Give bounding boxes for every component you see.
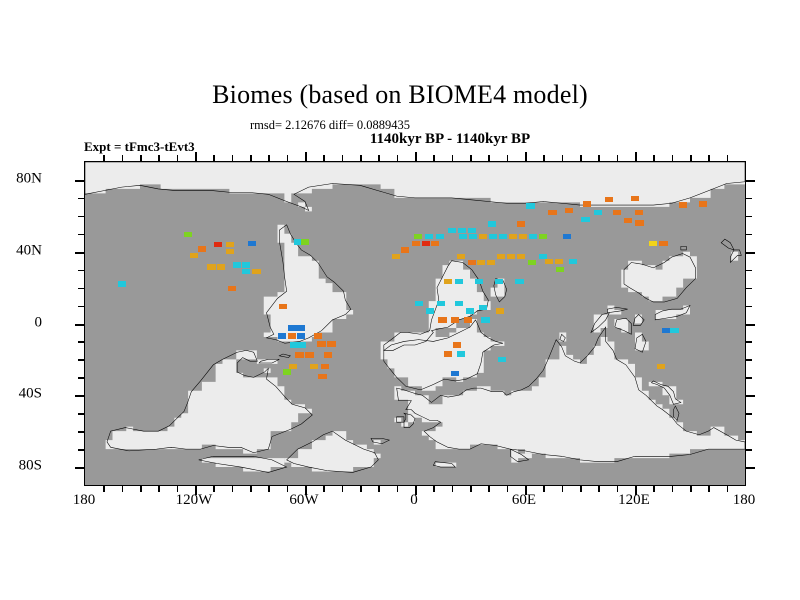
- figure-canvas: Biomes (based on BIOME4 model) rmsd= 2.1…: [0, 0, 800, 600]
- biome-marker: [495, 279, 503, 284]
- biome-marker: [278, 333, 286, 338]
- latitude-label: 40S: [0, 386, 56, 403]
- biome-marker: [317, 341, 325, 346]
- longitude-tick-top: [708, 155, 710, 162]
- biome-marker: [528, 260, 536, 265]
- biome-marker: [242, 269, 250, 274]
- biome-marker: [469, 234, 477, 239]
- biome-marker: [670, 328, 678, 333]
- biome-marker: [548, 210, 556, 215]
- latitude-tick: [75, 252, 85, 254]
- biome-marker: [412, 241, 420, 246]
- longitude-tick: [342, 485, 344, 492]
- latitude-tick-right: [745, 216, 752, 218]
- biome-marker: [487, 260, 495, 265]
- longitude-tick: [580, 485, 582, 492]
- latitude-tick-right: [745, 467, 755, 469]
- longitude-tick-top: [690, 155, 692, 162]
- longitude-tick: [433, 485, 435, 492]
- biome-marker: [659, 241, 667, 246]
- latitude-tick-right: [745, 306, 752, 308]
- biome-marker: [459, 234, 467, 239]
- biome-marker: [190, 253, 198, 258]
- biome-marker: [321, 364, 329, 369]
- experiment-label: Expt = tFmc3-tEvt3: [84, 139, 195, 155]
- latitude-tick: [78, 449, 85, 451]
- longitude-tick: [177, 485, 179, 492]
- figure-title: Biomes (based on BIOME4 model): [0, 80, 800, 110]
- longitude-tick: [672, 485, 674, 492]
- landmass-namerica: [106, 350, 312, 453]
- longitude-tick: [397, 485, 399, 492]
- landmass-australia: [621, 252, 697, 301]
- longitude-tick: [727, 485, 729, 492]
- longitude-tick: [543, 485, 545, 492]
- longitude-tick: [470, 485, 472, 492]
- longitude-tick: [452, 485, 454, 492]
- biome-marker: [425, 234, 433, 239]
- biome-marker: [444, 279, 452, 284]
- biome-marker: [184, 232, 192, 237]
- biome-marker: [488, 221, 496, 226]
- biome-marker: [451, 317, 459, 322]
- latitude-tick-right: [745, 449, 752, 451]
- latitude-tick: [78, 306, 85, 308]
- longitude-tick: [598, 485, 600, 492]
- biome-marker: [498, 357, 506, 362]
- biome-marker: [297, 333, 305, 338]
- longitude-tick: [378, 485, 380, 492]
- map-clip-region: [85, 162, 745, 485]
- longitude-label: 0: [374, 492, 454, 509]
- biome-marker: [455, 301, 463, 306]
- biome-marker: [437, 301, 445, 306]
- biome-marker: [288, 333, 296, 338]
- latitude-tick: [78, 288, 85, 290]
- biome-marker: [662, 328, 670, 333]
- biome-marker: [436, 234, 444, 239]
- biome-marker: [392, 254, 400, 259]
- biome-marker: [613, 210, 621, 215]
- biome-marker: [583, 201, 591, 206]
- longitude-tick: [360, 485, 362, 492]
- longitude-tick: [250, 485, 252, 492]
- longitude-tick-top: [103, 155, 105, 162]
- longitude-tick-top: [360, 155, 362, 162]
- longitude-label: 120E: [594, 492, 674, 509]
- biome-marker: [479, 305, 487, 310]
- latitude-label: 80N: [0, 170, 56, 187]
- biome-marker: [699, 201, 707, 206]
- latitude-tick: [78, 377, 85, 379]
- biome-marker: [475, 279, 483, 284]
- biome-marker: [631, 196, 639, 201]
- longitude-tick-top: [727, 155, 729, 162]
- longitude-tick-top: [397, 155, 399, 162]
- latitude-tick-right: [745, 324, 755, 326]
- latitude-tick: [75, 180, 85, 182]
- biome-marker: [499, 234, 507, 239]
- longitude-tick: [562, 485, 564, 492]
- biome-marker: [228, 286, 236, 291]
- biome-marker: [252, 269, 260, 274]
- latitude-tick-right: [745, 341, 752, 343]
- biome-marker: [455, 279, 463, 284]
- biome-marker: [431, 241, 439, 246]
- longitude-tick: [140, 485, 142, 492]
- biome-marker: [324, 352, 332, 357]
- biome-marker: [451, 371, 459, 376]
- biome-marker: [649, 241, 657, 246]
- longitude-tick: [507, 485, 509, 492]
- biome-marker: [290, 342, 298, 347]
- biome-marker: [468, 260, 476, 265]
- biome-marker: [298, 342, 306, 347]
- longitude-tick-top: [177, 155, 179, 162]
- latitude-tick-right: [745, 288, 752, 290]
- biome-marker: [448, 228, 456, 233]
- biome-marker: [555, 259, 563, 264]
- biome-marker: [624, 218, 632, 223]
- map-plot-frame: [84, 161, 746, 486]
- landmass-nzs: [724, 238, 731, 251]
- longitude-label: 60W: [264, 492, 344, 509]
- longitude-tick-top: [158, 155, 160, 162]
- biome-marker: [415, 301, 423, 306]
- biome-marker: [497, 254, 505, 259]
- biome-marker: [509, 234, 517, 239]
- longitude-tick-top: [250, 155, 252, 162]
- longitude-tick-top: [323, 155, 325, 162]
- latitude-tick-right: [745, 413, 752, 415]
- latitude-label: 40N: [0, 242, 56, 259]
- longitude-tick: [213, 485, 215, 492]
- latitude-tick: [75, 395, 85, 397]
- longitude-tick: [323, 485, 325, 492]
- longitude-tick-top: [488, 155, 490, 162]
- longitude-tick-top: [378, 155, 380, 162]
- biome-marker: [563, 234, 571, 239]
- longitude-tick-top: [140, 155, 142, 162]
- longitude-tick-top: [122, 155, 124, 162]
- coastline-hispaniola: [279, 354, 290, 358]
- biome-marker: [464, 317, 472, 322]
- biome-marker: [214, 242, 222, 247]
- longitude-tick-top: [507, 155, 509, 162]
- biome-marker: [515, 279, 523, 284]
- latitude-tick-right: [745, 198, 752, 200]
- longitude-tick: [122, 485, 124, 492]
- longitude-tick: [268, 485, 270, 492]
- longitude-label: 180: [704, 492, 784, 509]
- biome-marker: [198, 246, 206, 251]
- latitude-tick-right: [745, 234, 752, 236]
- biome-marker: [605, 197, 613, 202]
- longitude-tick-top: [287, 155, 289, 162]
- latitude-tick-right: [745, 377, 752, 379]
- latitude-tick-right: [745, 252, 755, 254]
- longitude-tick-top: [232, 155, 234, 162]
- biome-marker: [635, 210, 643, 215]
- latitude-tick: [78, 216, 85, 218]
- biome-marker: [217, 264, 225, 269]
- landmass-britain: [401, 413, 415, 426]
- biome-marker: [481, 317, 489, 322]
- biome-marker: [279, 304, 287, 309]
- coastline-tasmania: [681, 246, 687, 250]
- biome-marker: [529, 234, 537, 239]
- biome-marker: [679, 202, 687, 207]
- longitude-label: 60E: [484, 492, 564, 509]
- biome-marker: [635, 220, 643, 225]
- longitude-tick: [690, 485, 692, 492]
- longitude-tick: [103, 485, 105, 492]
- longitude-tick: [287, 485, 289, 492]
- biome-marker: [457, 351, 465, 356]
- biome-marker: [414, 234, 422, 239]
- latitude-tick: [75, 324, 85, 326]
- biome-marker: [569, 259, 577, 264]
- biome-marker: [458, 228, 466, 233]
- biome-marker: [438, 317, 446, 322]
- biome-marker: [657, 364, 665, 369]
- longitude-tick-top: [617, 155, 619, 162]
- latitude-label: 0: [0, 314, 56, 331]
- landmass-greenland: [284, 431, 380, 471]
- landmass-africa: [381, 261, 505, 391]
- biome-marker: [248, 241, 256, 246]
- biome-marker: [545, 259, 553, 264]
- biome-marker: [489, 234, 497, 239]
- biome-marker: [310, 364, 318, 369]
- longitude-tick-top: [525, 152, 527, 162]
- latitude-tick: [75, 467, 85, 469]
- biome-marker: [295, 352, 303, 357]
- biome-marker: [457, 254, 465, 259]
- biome-marker: [296, 325, 304, 330]
- latitude-tick-right: [745, 359, 752, 361]
- biome-marker: [327, 341, 335, 346]
- biome-marker: [507, 254, 515, 259]
- biome-marker: [594, 210, 602, 215]
- coastline-nzs: [721, 239, 734, 250]
- longitude-tick-top: [415, 152, 417, 162]
- longitude-tick-top: [195, 152, 197, 162]
- latitude-tick-right: [745, 395, 755, 397]
- longitude-tick-top: [470, 155, 472, 162]
- landmass-sulawesi: [635, 315, 642, 324]
- longitude-tick: [617, 485, 619, 492]
- longitude-label: 120W: [154, 492, 234, 509]
- longitude-tick-top: [213, 155, 215, 162]
- longitude-tick: [232, 485, 234, 492]
- longitude-tick-top: [268, 155, 270, 162]
- landmass-philippines: [635, 332, 649, 350]
- latitude-tick-right: [745, 431, 752, 433]
- landmass-antarctica: [85, 162, 745, 211]
- longitude-tick: [653, 485, 655, 492]
- latitude-tick: [78, 359, 85, 361]
- biome-marker: [468, 228, 476, 233]
- biome-marker: [401, 247, 409, 252]
- latitude-tick: [78, 198, 85, 200]
- longitude-label: 180: [44, 492, 124, 509]
- longitude-tick-top: [562, 155, 564, 162]
- longitude-tick: [488, 485, 490, 492]
- longitude-tick-top: [598, 155, 600, 162]
- biome-marker: [318, 374, 326, 379]
- latitude-tick: [78, 341, 85, 343]
- biome-marker: [207, 264, 215, 269]
- longitude-tick-top: [635, 152, 637, 162]
- longitude-tick-top: [433, 155, 435, 162]
- biome-marker: [226, 249, 234, 254]
- landmass-ireland: [394, 418, 401, 422]
- biome-marker: [466, 308, 474, 313]
- latitude-tick: [78, 413, 85, 415]
- biome-marker: [517, 221, 525, 226]
- land-layer: [85, 162, 745, 472]
- biome-marker: [301, 239, 309, 244]
- longitude-tick-top: [452, 155, 454, 162]
- biome-marker: [233, 262, 241, 267]
- biome-marker: [565, 208, 573, 213]
- latitude-tick-right: [745, 180, 755, 182]
- biome-marker: [526, 203, 534, 208]
- biome-marker: [305, 352, 313, 357]
- latitude-tick: [78, 270, 85, 272]
- biome-marker: [242, 262, 250, 267]
- biome-marker: [444, 351, 452, 356]
- biome-marker: [477, 260, 485, 265]
- latitude-tick: [78, 234, 85, 236]
- biome-marker: [118, 281, 126, 286]
- biome-marker: [539, 234, 547, 239]
- world-map: [85, 162, 745, 485]
- biome-marker: [288, 325, 296, 330]
- biome-marker: [314, 333, 322, 338]
- longitude-tick: [708, 485, 710, 492]
- biome-marker: [517, 254, 525, 259]
- biome-marker: [581, 217, 589, 222]
- longitude-tick-top: [342, 155, 344, 162]
- longitude-tick: [158, 485, 160, 492]
- period-label: 1140kyr BP - 1140kyr BP: [250, 131, 650, 148]
- biome-marker: [519, 234, 527, 239]
- biome-marker: [422, 241, 430, 246]
- longitude-tick-top: [672, 155, 674, 162]
- latitude-tick-right: [745, 270, 752, 272]
- longitude-tick-top: [653, 155, 655, 162]
- biome-marker: [226, 242, 234, 247]
- biome-marker: [453, 342, 461, 347]
- latitude-tick: [78, 431, 85, 433]
- biome-marker: [496, 308, 504, 313]
- longitude-tick-top: [305, 152, 307, 162]
- biome-marker: [479, 234, 487, 239]
- biome-marker: [283, 369, 291, 374]
- longitude-tick-top: [543, 155, 545, 162]
- biome-marker: [426, 308, 434, 313]
- longitude-tick-top: [580, 155, 582, 162]
- biome-marker: [556, 267, 564, 272]
- latitude-label: 80S: [0, 458, 56, 475]
